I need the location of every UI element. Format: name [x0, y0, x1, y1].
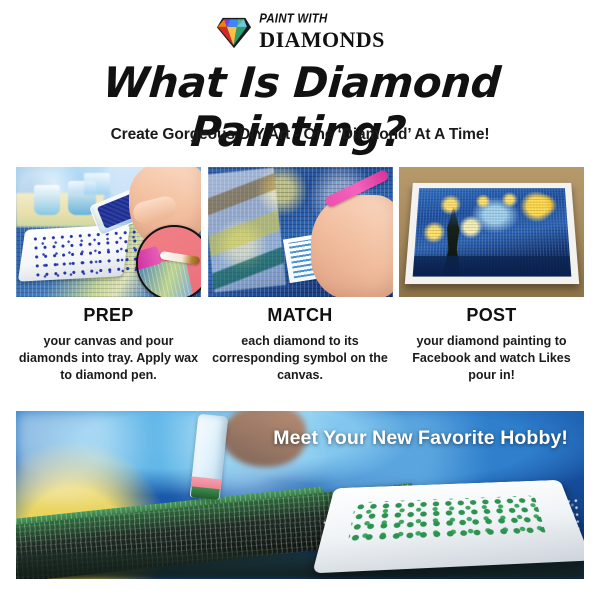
step-caption-post: POST your diamond painting to Facebook a…	[399, 305, 584, 384]
brand-line-2: DIAMONDS	[259, 29, 384, 51]
step-title-post: POST	[399, 305, 584, 326]
prep-blue-diamonds	[31, 227, 142, 278]
brand-logo[interactable]: PAINT WITH DIAMONDS	[0, 10, 600, 56]
hero-banner: Meet Your New Favorite Hobby!	[16, 411, 584, 579]
prep-wax-inset	[136, 225, 201, 297]
post-art-village	[413, 256, 572, 277]
brand-line-1: PAINT WITH	[259, 13, 384, 26]
step-images	[16, 167, 584, 297]
banner-green-diamonds	[347, 495, 547, 545]
step-captions: PREP your canvas and pour diamonds into …	[16, 305, 584, 384]
step-body-prep: your canvas and pour diamonds into tray.…	[16, 333, 201, 384]
prep-jar-1	[34, 185, 60, 215]
step-image-match	[208, 167, 393, 297]
step-title-match: MATCH	[208, 305, 393, 326]
banner-white-tray	[312, 480, 584, 573]
post-starry-night-art	[413, 188, 572, 276]
match-diamond-bags	[208, 168, 286, 293]
step-body-post: your diamond painting to Facebook and wa…	[399, 333, 584, 384]
step-image-post	[399, 167, 584, 297]
step-caption-prep: PREP your canvas and pour diamonds into …	[16, 305, 201, 384]
step-title-prep: PREP	[16, 305, 201, 326]
match-hand	[311, 195, 393, 297]
infographic-page: PAINT WITH DIAMONDS What Is Diamond Pain…	[0, 0, 600, 600]
brand-wordmark: PAINT WITH DIAMONDS	[259, 15, 384, 52]
post-finished-painting	[405, 183, 579, 284]
prep-jar-3	[84, 173, 110, 195]
banner-headline: Meet Your New Favorite Hobby!	[273, 427, 568, 450]
diamond-gem-icon	[215, 15, 253, 51]
step-caption-match: MATCH each diamond to its corresponding …	[208, 305, 393, 384]
step-image-prep	[16, 167, 201, 297]
step-body-match: each diamond to its corresponding symbol…	[208, 333, 393, 384]
page-subtitle: Create Gorgeous DIY Art - One ‘Diamond’ …	[0, 126, 600, 144]
